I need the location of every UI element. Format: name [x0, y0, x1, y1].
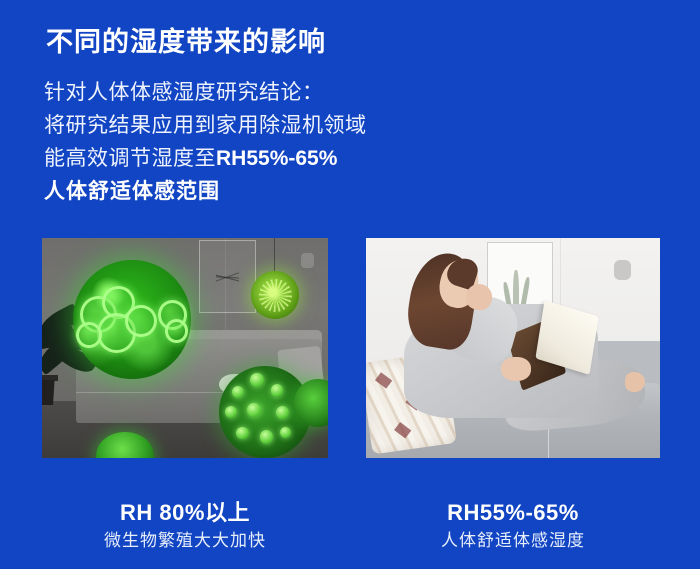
microbe-bump: [280, 427, 291, 438]
microbe-bump: [225, 406, 237, 418]
microbe-bump: [271, 384, 284, 397]
microbe-bump: [276, 406, 289, 419]
photo-high-humidity: [42, 238, 328, 458]
intro-line-3-prefix: 能高效调节湿度至: [44, 147, 216, 170]
pillow-motif: [374, 372, 391, 388]
caption-high-humidity: RH 80%以上 微生物繁殖大大加快: [42, 500, 328, 554]
wall-sensor-icon: [614, 260, 631, 280]
intro-line-4: 人体舒适体感范围: [44, 175, 367, 208]
microbe-cell: [165, 319, 189, 343]
wall-art-frame: [199, 240, 255, 312]
cactus-branch: [521, 277, 531, 307]
intro-line-3: 能高效调节湿度至RH55%-65%: [44, 142, 367, 175]
hanging-cord: [274, 238, 275, 271]
wall-sensor-icon: [301, 253, 314, 268]
microbe-cell: [76, 322, 102, 348]
pillow-motif: [394, 421, 411, 437]
microbe-cell: [125, 305, 157, 337]
intro-line-2: 将研究结果应用到家用除湿机领域: [44, 109, 367, 142]
page-title: 不同的湿度带来的影响: [46, 20, 326, 59]
microbe-bump: [260, 430, 274, 444]
microbe-sphere-large: [73, 260, 190, 379]
microbe-bump: [247, 403, 262, 418]
caption-subtitle: 微生物繁殖大大加快: [42, 528, 328, 554]
microbe-bump: [250, 373, 264, 387]
scene-dim-living-room: [42, 238, 328, 458]
caption-subtitle: 人体舒适体感湿度: [366, 528, 660, 554]
caption-comfort-humidity: RH55%-65% 人体舒适体感湿度: [366, 500, 660, 554]
plant-pot: [42, 380, 56, 405]
intro-paragraph: 针对人体体感湿度研究结论： 将研究结果应用到家用除湿机领域 能高效调节湿度至RH…: [44, 76, 367, 208]
caption-title: RH55%-65%: [366, 500, 660, 526]
humidity-range-value: RH55%-65%: [216, 147, 337, 170]
microbe-bump: [236, 427, 249, 440]
microbe-bump: [232, 386, 244, 398]
photo-comfort-humidity: [366, 238, 660, 458]
scene-bright-living-room: [366, 238, 660, 458]
intro-line-1: 针对人体体感湿度研究结论：: [44, 76, 367, 109]
caption-title: RH 80%以上: [42, 500, 328, 526]
humidity-infographic-poster: 不同的湿度带来的影响 针对人体体感湿度研究结论： 将研究结果应用到家用除湿机领域…: [0, 0, 700, 569]
person-hand-holding-book: [501, 357, 530, 381]
